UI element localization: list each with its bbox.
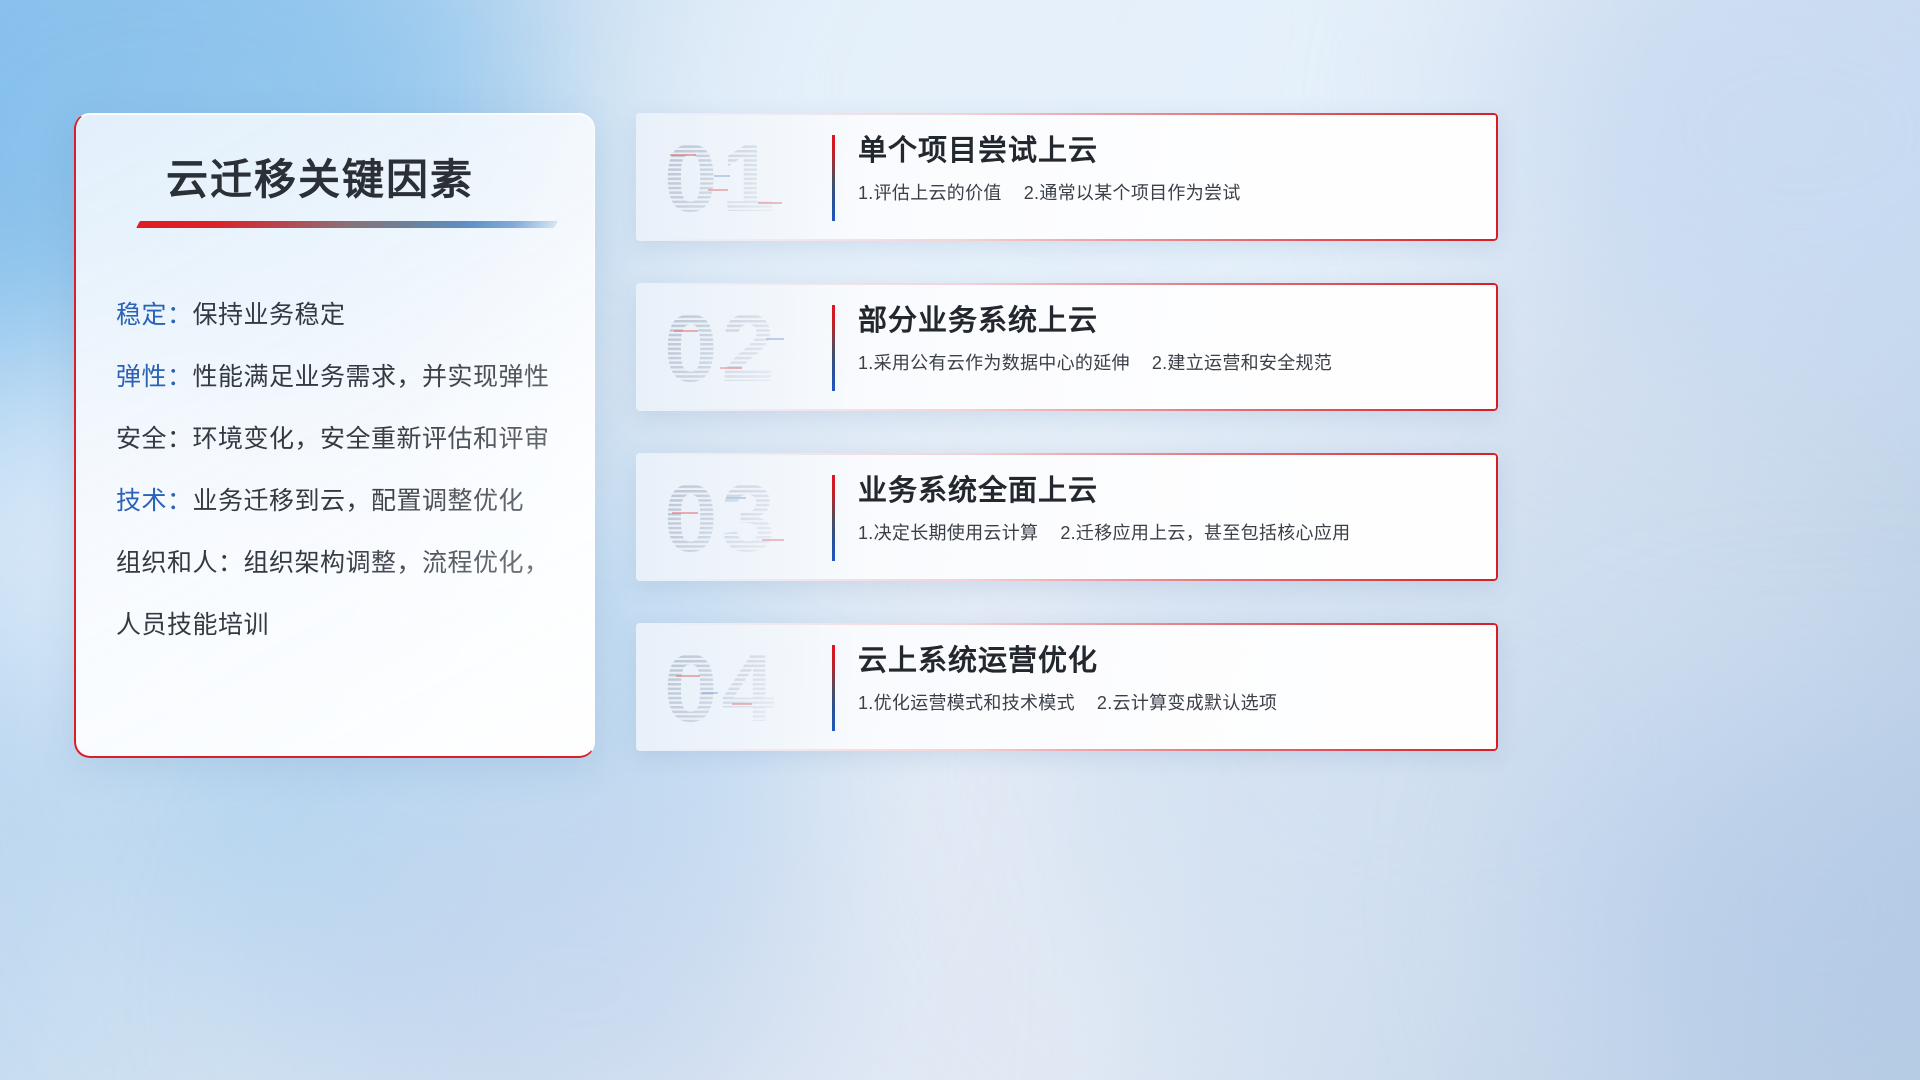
- factor-text: 环境变化，安全重新评估和评审: [193, 425, 550, 453]
- factor-label: 安全：: [116, 425, 193, 453]
- factor-label: 弹性：: [116, 363, 193, 391]
- stage-card-content: 单个项目尝试上云 1.评估上云的价值2.通常以某个项目作为尝试: [858, 129, 1474, 205]
- factor-row-security: 安全：环境变化，安全重新评估和评审: [116, 408, 572, 470]
- stage-point-2: 2.迁移应用上云，甚至包括核心应用: [1060, 523, 1350, 543]
- stage-card-content: 部分业务系统上云 1.采用公有云作为数据中心的延伸2.建立运营和安全规范: [858, 299, 1474, 375]
- stage-number-01-icon: 01: [662, 127, 824, 227]
- svg-text:04: 04: [664, 637, 779, 737]
- stage-card-01[interactable]: 01 单个项目尝试上云 1.评估上云的价值2.通常以某个项目作为尝试: [636, 113, 1498, 241]
- stage-point-1: 1.评估上云的价值: [858, 183, 1002, 203]
- stage-point-1: 1.优化运营模式和技术模式: [858, 693, 1075, 713]
- accent-divider: [832, 305, 835, 391]
- stage-card-points: 1.决定长期使用云计算2.迁移应用上云，甚至包括核心应用: [858, 519, 1474, 545]
- accent-divider: [832, 645, 835, 731]
- stage-card-title: 云上系统运营优化: [858, 639, 1474, 683]
- page-title: 云迁移关键因素: [166, 146, 474, 207]
- stage-number-04-icon: 04: [662, 637, 824, 737]
- key-factors-list: 稳定：保持业务稳定 弹性：性能满足业务需求，并实现弹性 安全：环境变化，安全重新…: [116, 284, 572, 656]
- factor-text-continued: 人员技能培训: [116, 611, 269, 639]
- accent-divider: [832, 475, 835, 561]
- factor-row-elasticity: 弹性：性能满足业务需求，并实现弹性: [116, 346, 572, 408]
- factor-text: 性能满足业务需求，并实现弹性: [193, 363, 550, 391]
- factor-label: 组织和人：: [116, 549, 244, 577]
- slide-stage: 云迁移关键因素 稳定：保持业务稳定 弹性：性能满足业务需求，并实现弹性 安全：环…: [0, 0, 1920, 1080]
- stage-card-03[interactable]: 03 业务系统全面上云 1.决定长期使用云计算2.迁移应用上云，甚至包括核心应用: [636, 453, 1498, 581]
- factor-row-technology: 技术：业务迁移到云，配置调整优化: [116, 470, 572, 532]
- svg-text:02: 02: [664, 297, 779, 397]
- stage-number-03-icon: 03: [662, 467, 824, 567]
- stage-card-content: 业务系统全面上云 1.决定长期使用云计算2.迁移应用上云，甚至包括核心应用: [858, 469, 1474, 545]
- svg-text:03: 03: [664, 467, 779, 567]
- factor-row-organization: 组织和人：组织架构调整，流程优化，: [116, 532, 572, 594]
- stage-point-1: 1.决定长期使用云计算: [858, 523, 1038, 543]
- factor-label: 稳定：: [116, 301, 193, 329]
- stage-card-content: 云上系统运营优化 1.优化运营模式和技术模式2.云计算变成默认选项: [858, 639, 1474, 715]
- factor-text: 业务迁移到云，配置调整优化: [193, 487, 525, 515]
- factor-row-stability: 稳定：保持业务稳定: [116, 284, 572, 346]
- factor-text: 保持业务稳定: [193, 301, 346, 329]
- stage-point-2: 2.建立运营和安全规范: [1152, 353, 1332, 373]
- stage-card-points: 1.采用公有云作为数据中心的延伸2.建立运营和安全规范: [858, 349, 1474, 375]
- stage-card-list: 01 单个项目尝试上云 1.评估上云的价值2.通常以某个项目作为尝试: [636, 113, 1498, 793]
- stage-number-02-icon: 02: [662, 297, 824, 397]
- title-underline-gradient: [136, 221, 558, 228]
- stage-card-04[interactable]: 04 云上系统运营优化 1.优化运营模式和技术模式2.云计算变成默认选项: [636, 623, 1498, 751]
- accent-divider: [832, 135, 835, 221]
- stage-card-title: 单个项目尝试上云: [858, 129, 1474, 173]
- factor-row-organization-cont: 人员技能培训: [116, 594, 572, 656]
- stage-card-title: 部分业务系统上云: [858, 299, 1474, 343]
- stage-card-points: 1.优化运营模式和技术模式2.云计算变成默认选项: [858, 689, 1474, 715]
- stage-card-title: 业务系统全面上云: [858, 469, 1474, 513]
- factor-label: 技术：: [116, 487, 193, 515]
- stage-point-1: 1.采用公有云作为数据中心的延伸: [858, 353, 1130, 373]
- stage-card-points: 1.评估上云的价值2.通常以某个项目作为尝试: [858, 179, 1474, 205]
- key-factors-panel: 云迁移关键因素 稳定：保持业务稳定 弹性：性能满足业务需求，并实现弹性 安全：环…: [74, 113, 595, 758]
- stage-point-2: 2.云计算变成默认选项: [1097, 693, 1277, 713]
- stage-point-2: 2.通常以某个项目作为尝试: [1024, 183, 1241, 203]
- factor-text: 组织架构调整，流程优化，: [244, 549, 550, 577]
- stage-card-02[interactable]: 02 部分业务系统上云 1.采用公有云作为数据中心的延伸2.建立运营和安全规范: [636, 283, 1498, 411]
